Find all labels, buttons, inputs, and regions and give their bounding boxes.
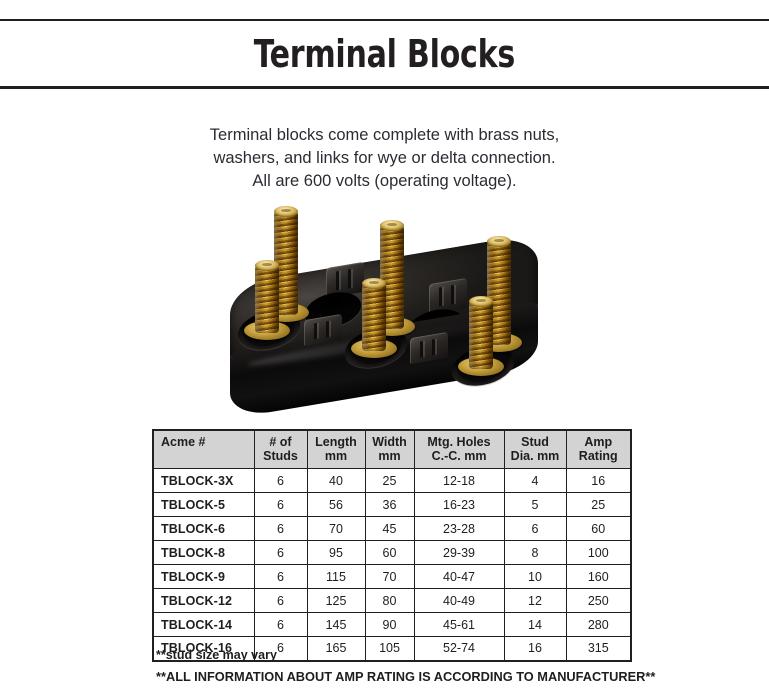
cell-length: 145 (307, 613, 365, 637)
terminal-block-spec-table: Acme # # of Studs Length mm Width mm Mtg… (152, 429, 632, 662)
cell-model: TBLOCK-3X (153, 469, 254, 493)
cell-length: 40 (307, 469, 365, 493)
cell-width: 45 (365, 517, 414, 541)
intro-paragraph: Terminal blocks come complete with brass… (0, 124, 769, 193)
footnote-amp-rating: **ALL INFORMATION ABOUT AMP RATING IS AC… (156, 669, 756, 684)
cell-model: TBLOCK-6 (153, 517, 254, 541)
cell-stud-dia: 12 (504, 589, 566, 613)
footnote-stud-size: **stud size may vary (156, 648, 756, 662)
cell-mtg-holes: 16-23 (414, 493, 504, 517)
cell-length: 115 (307, 565, 365, 589)
cell-width: 80 (365, 589, 414, 613)
stud-crown (362, 278, 386, 289)
column-header-studs: # of Studs (254, 430, 307, 469)
column-header-width-line2: mm (368, 449, 412, 463)
cell-mtg-holes: 29-39 (414, 541, 504, 565)
cell-amp-rating: 60 (566, 517, 631, 541)
cell-width: 90 (365, 613, 414, 637)
cell-amp-rating: 160 (566, 565, 631, 589)
cell-width: 36 (365, 493, 414, 517)
cell-stud-dia: 6 (504, 517, 566, 541)
column-header-length-line1: Length (315, 435, 357, 449)
cell-model: TBLOCK-9 (153, 565, 254, 589)
cell-length: 125 (307, 589, 365, 613)
table-body: TBLOCK-3X6402512-18416TBLOCK-56563616-23… (153, 469, 631, 661)
stud-crown (487, 236, 511, 247)
terminal-block-illustration (222, 207, 558, 417)
column-header-mtg-holes: Mtg. Holes C.-C. mm (414, 430, 504, 469)
column-header-width-line1: Width (372, 435, 407, 449)
cell-studs: 6 (254, 493, 307, 517)
cell-model: TBLOCK-12 (153, 589, 254, 613)
cell-amp-rating: 280 (566, 613, 631, 637)
column-header-studs-line1: # of (269, 435, 291, 449)
table-row: TBLOCK-1261258040-4912250 (153, 589, 631, 613)
table-row: TBLOCK-56563616-23525 (153, 493, 631, 517)
cell-model: TBLOCK-8 (153, 541, 254, 565)
stud-thread (362, 283, 386, 351)
cell-amp-rating: 16 (566, 469, 631, 493)
stud-crown (469, 296, 493, 307)
cell-studs: 6 (254, 469, 307, 493)
column-header-amp-rating: Amp Rating (566, 430, 631, 469)
column-header-stud-dia-line2: Dia. mm (507, 449, 564, 463)
cell-studs: 6 (254, 517, 307, 541)
table-row: TBLOCK-961157040-4710160 (153, 565, 631, 589)
cell-stud-dia: 14 (504, 613, 566, 637)
title-band: Terminal Blocks (0, 19, 769, 89)
stud-crown (274, 206, 298, 217)
cell-stud-dia: 8 (504, 541, 566, 565)
intro-line-3: All are 600 volts (operating voltage). (0, 170, 769, 193)
spec-table-container: Acme # # of Studs Length mm Width mm Mtg… (152, 429, 630, 662)
cell-model: TBLOCK-5 (153, 493, 254, 517)
column-header-length-line2: mm (310, 449, 363, 463)
cell-model: TBLOCK-14 (153, 613, 254, 637)
page-title: Terminal Blocks (254, 32, 515, 76)
column-header-amp-line1: Amp (584, 435, 612, 449)
column-header-stud-dia-line1: Stud (521, 435, 549, 449)
cell-width: 60 (365, 541, 414, 565)
stud-thread (469, 301, 493, 369)
product-photo (222, 207, 558, 417)
table-row: TBLOCK-66704523-28660 (153, 517, 631, 541)
table-row: TBLOCK-3X6402512-18416 (153, 469, 631, 493)
cell-studs: 6 (254, 565, 307, 589)
cell-amp-rating: 100 (566, 541, 631, 565)
table-header-row: Acme # # of Studs Length mm Width mm Mtg… (153, 430, 631, 469)
column-header-acme: Acme # (153, 430, 254, 469)
cell-width: 25 (365, 469, 414, 493)
column-header-stud-dia: Stud Dia. mm (504, 430, 566, 469)
cell-amp-rating: 25 (566, 493, 631, 517)
cell-mtg-holes: 23-28 (414, 517, 504, 541)
cell-width: 70 (365, 565, 414, 589)
column-header-width: Width mm (365, 430, 414, 469)
cell-stud-dia: 5 (504, 493, 566, 517)
table-row: TBLOCK-1461459045-6114280 (153, 613, 631, 637)
cell-studs: 6 (254, 613, 307, 637)
cell-mtg-holes: 45-61 (414, 613, 504, 637)
column-header-length: Length mm (307, 430, 365, 469)
table-header: Acme # # of Studs Length mm Width mm Mtg… (153, 430, 631, 469)
cell-studs: 6 (254, 541, 307, 565)
cell-mtg-holes: 12-18 (414, 469, 504, 493)
cell-studs: 6 (254, 589, 307, 613)
stud-thread (255, 265, 279, 333)
column-header-mtg-holes-line1: Mtg. Holes (427, 435, 490, 449)
column-header-acme-label: Acme # (161, 435, 205, 449)
cell-length: 70 (307, 517, 365, 541)
cell-mtg-holes: 40-49 (414, 589, 504, 613)
cell-stud-dia: 4 (504, 469, 566, 493)
intro-line-1: Terminal blocks come complete with brass… (0, 124, 769, 147)
column-header-studs-line2: Studs (257, 449, 305, 463)
footnotes: **stud size may vary **ALL INFORMATION A… (156, 648, 756, 684)
cell-amp-rating: 250 (566, 589, 631, 613)
stud-crown (380, 220, 404, 231)
intro-line-2: washers, and links for wye or delta conn… (0, 147, 769, 170)
cell-length: 56 (307, 493, 365, 517)
cell-length: 95 (307, 541, 365, 565)
cell-stud-dia: 10 (504, 565, 566, 589)
table-row: TBLOCK-86956029-398100 (153, 541, 631, 565)
column-header-mtg-holes-line2: C.-C. mm (417, 449, 502, 463)
cell-mtg-holes: 40-47 (414, 565, 504, 589)
column-header-amp-line2: Rating (569, 449, 629, 463)
stud-crown (255, 260, 279, 271)
